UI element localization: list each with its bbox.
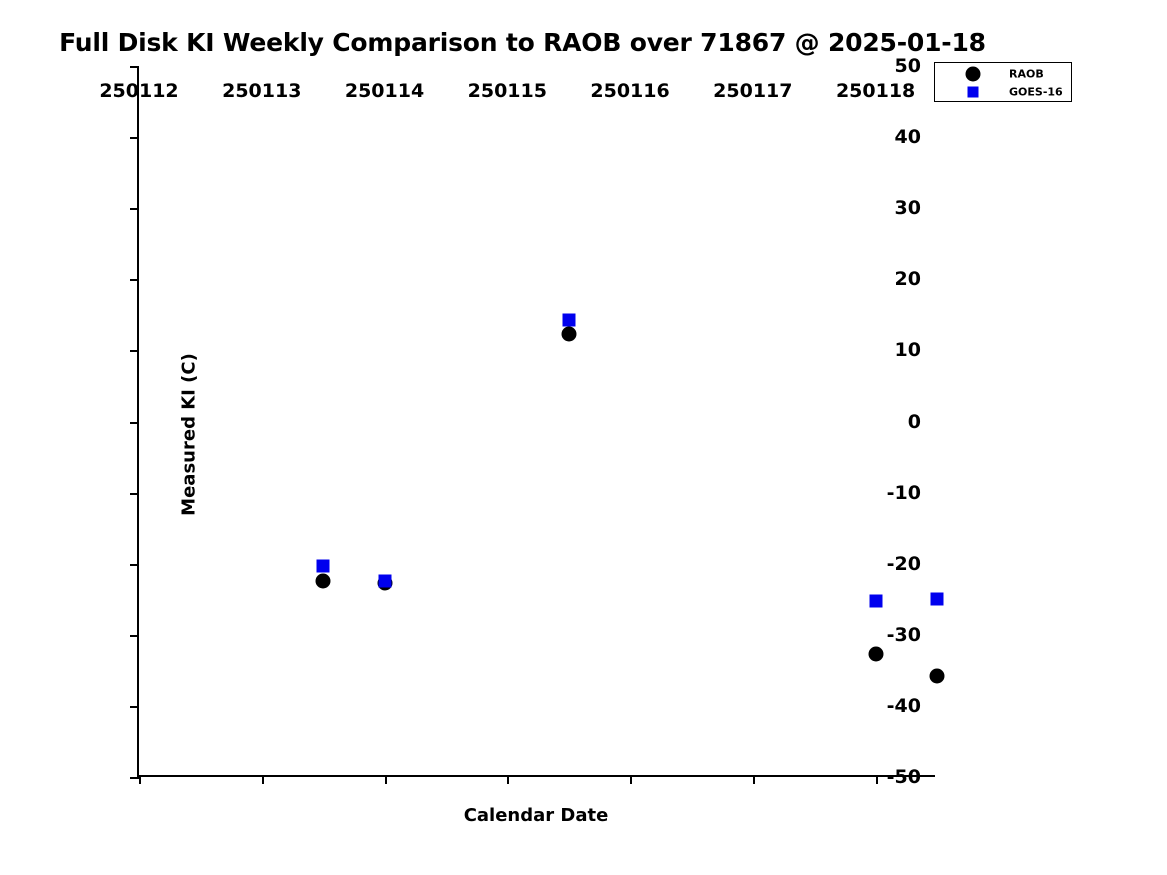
y-axis-tick-label: 0 <box>908 411 921 433</box>
data-point-goes-16 <box>931 593 944 606</box>
y-axis-label: Measured KI (C) <box>179 325 200 545</box>
y-axis-tick <box>130 66 139 68</box>
x-axis-tick-label: 250117 <box>713 80 792 102</box>
y-axis-tick <box>130 137 139 139</box>
x-axis-tick <box>262 775 264 784</box>
plot-area: 50403020100-10-20-30-40-5025011225011325… <box>137 66 935 777</box>
x-axis-tick <box>753 775 755 784</box>
y-axis-tick-label: -20 <box>887 553 921 575</box>
data-point-raob <box>561 327 576 342</box>
legend-label-raob: RAOB <box>1009 68 1044 81</box>
page-title: Full Disk KI Weekly Comparison to RAOB o… <box>0 28 1045 57</box>
goes16-marker-icon <box>968 87 979 98</box>
y-axis-tick <box>130 279 139 281</box>
y-axis-tick-label: -30 <box>887 624 921 646</box>
x-axis-tick <box>507 775 509 784</box>
data-point-goes-16 <box>378 575 391 588</box>
y-axis-tick-label: -10 <box>887 482 921 504</box>
y-axis-tick-label: -50 <box>887 766 921 788</box>
chart-legend: RAOB GOES-16 <box>934 62 1072 102</box>
y-axis-tick-label: -40 <box>887 695 921 717</box>
y-axis-tick <box>130 208 139 210</box>
legend-label-goes16: GOES-16 <box>1009 86 1063 99</box>
x-axis-tick-label: 250112 <box>99 80 178 102</box>
y-axis-tick <box>130 706 139 708</box>
x-axis-tick <box>385 775 387 784</box>
y-axis-tick-label: 50 <box>895 55 921 77</box>
x-axis-label: Calendar Date <box>137 805 935 826</box>
x-axis-tick-label: 250116 <box>590 80 669 102</box>
y-axis-tick <box>130 777 139 779</box>
data-point-goes-16 <box>562 313 575 326</box>
data-point-goes-16 <box>869 594 882 607</box>
x-axis-tick-label: 250118 <box>836 80 915 102</box>
raob-marker-icon <box>966 67 981 82</box>
data-point-raob <box>930 669 945 684</box>
chart-figure: Full Disk KI Weekly Comparison to RAOB o… <box>0 0 1167 875</box>
y-axis-tick-label: 20 <box>895 268 921 290</box>
y-axis-tick-label: 30 <box>895 197 921 219</box>
y-axis-tick-label: 10 <box>895 339 921 361</box>
y-axis-tick <box>130 350 139 352</box>
data-point-raob <box>868 646 883 661</box>
x-axis-tick-label: 250115 <box>468 80 547 102</box>
legend-entry-raob: RAOB <box>935 65 1071 83</box>
x-axis-tick-label: 250113 <box>222 80 301 102</box>
y-axis-tick <box>130 422 139 424</box>
x-axis-tick <box>876 775 878 784</box>
y-axis-tick <box>130 635 139 637</box>
data-point-raob <box>316 573 331 588</box>
legend-entry-goes16: GOES-16 <box>935 83 1071 101</box>
y-axis-tick-label: 40 <box>895 126 921 148</box>
scatter-data-layer <box>139 66 935 775</box>
x-axis-tick-label: 250114 <box>345 80 424 102</box>
x-axis-tick <box>139 775 141 784</box>
x-axis-tick <box>630 775 632 784</box>
data-point-goes-16 <box>317 559 330 572</box>
y-axis-tick <box>130 564 139 566</box>
y-axis-tick <box>130 493 139 495</box>
